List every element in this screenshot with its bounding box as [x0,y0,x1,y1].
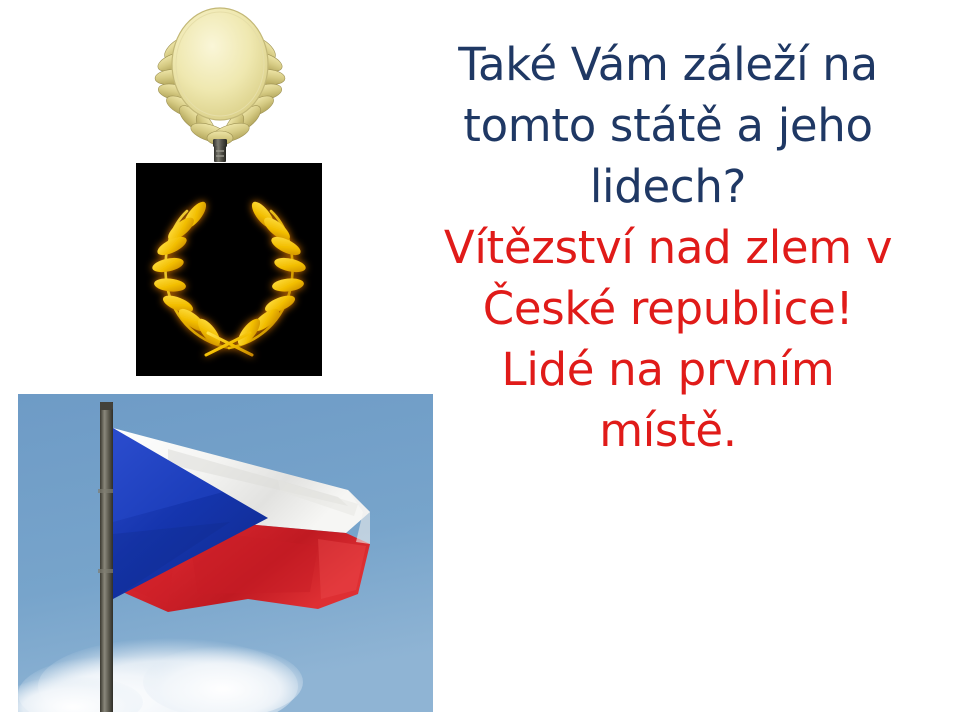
czech-flag-photo [18,394,433,712]
glowing-laurel-wreath-image [136,163,322,376]
question-line-1: Také Vám záleží na [392,34,944,95]
statement-text: Vítězství nad zlem v České republice! Li… [392,217,944,461]
question-line-3: lidech? [392,156,944,217]
statement-line-3: Lidé na prvním [392,339,944,400]
statement-line-1: Vítězství nad zlem v [392,217,944,278]
gold-laurel-medallion-image [150,2,290,164]
statement-line-4: místě. [392,400,944,461]
question-text: Také Vám záleží na tomto státě a jeho li… [392,34,944,217]
slide-text-block: Také Vám záleží na tomto státě a jeho li… [392,34,944,461]
question-line-2: tomto státě a jeho [392,95,944,156]
slide-canvas: Také Vám záleží na tomto státě a jeho li… [0,0,960,720]
statement-line-2: České republice! [392,278,944,339]
